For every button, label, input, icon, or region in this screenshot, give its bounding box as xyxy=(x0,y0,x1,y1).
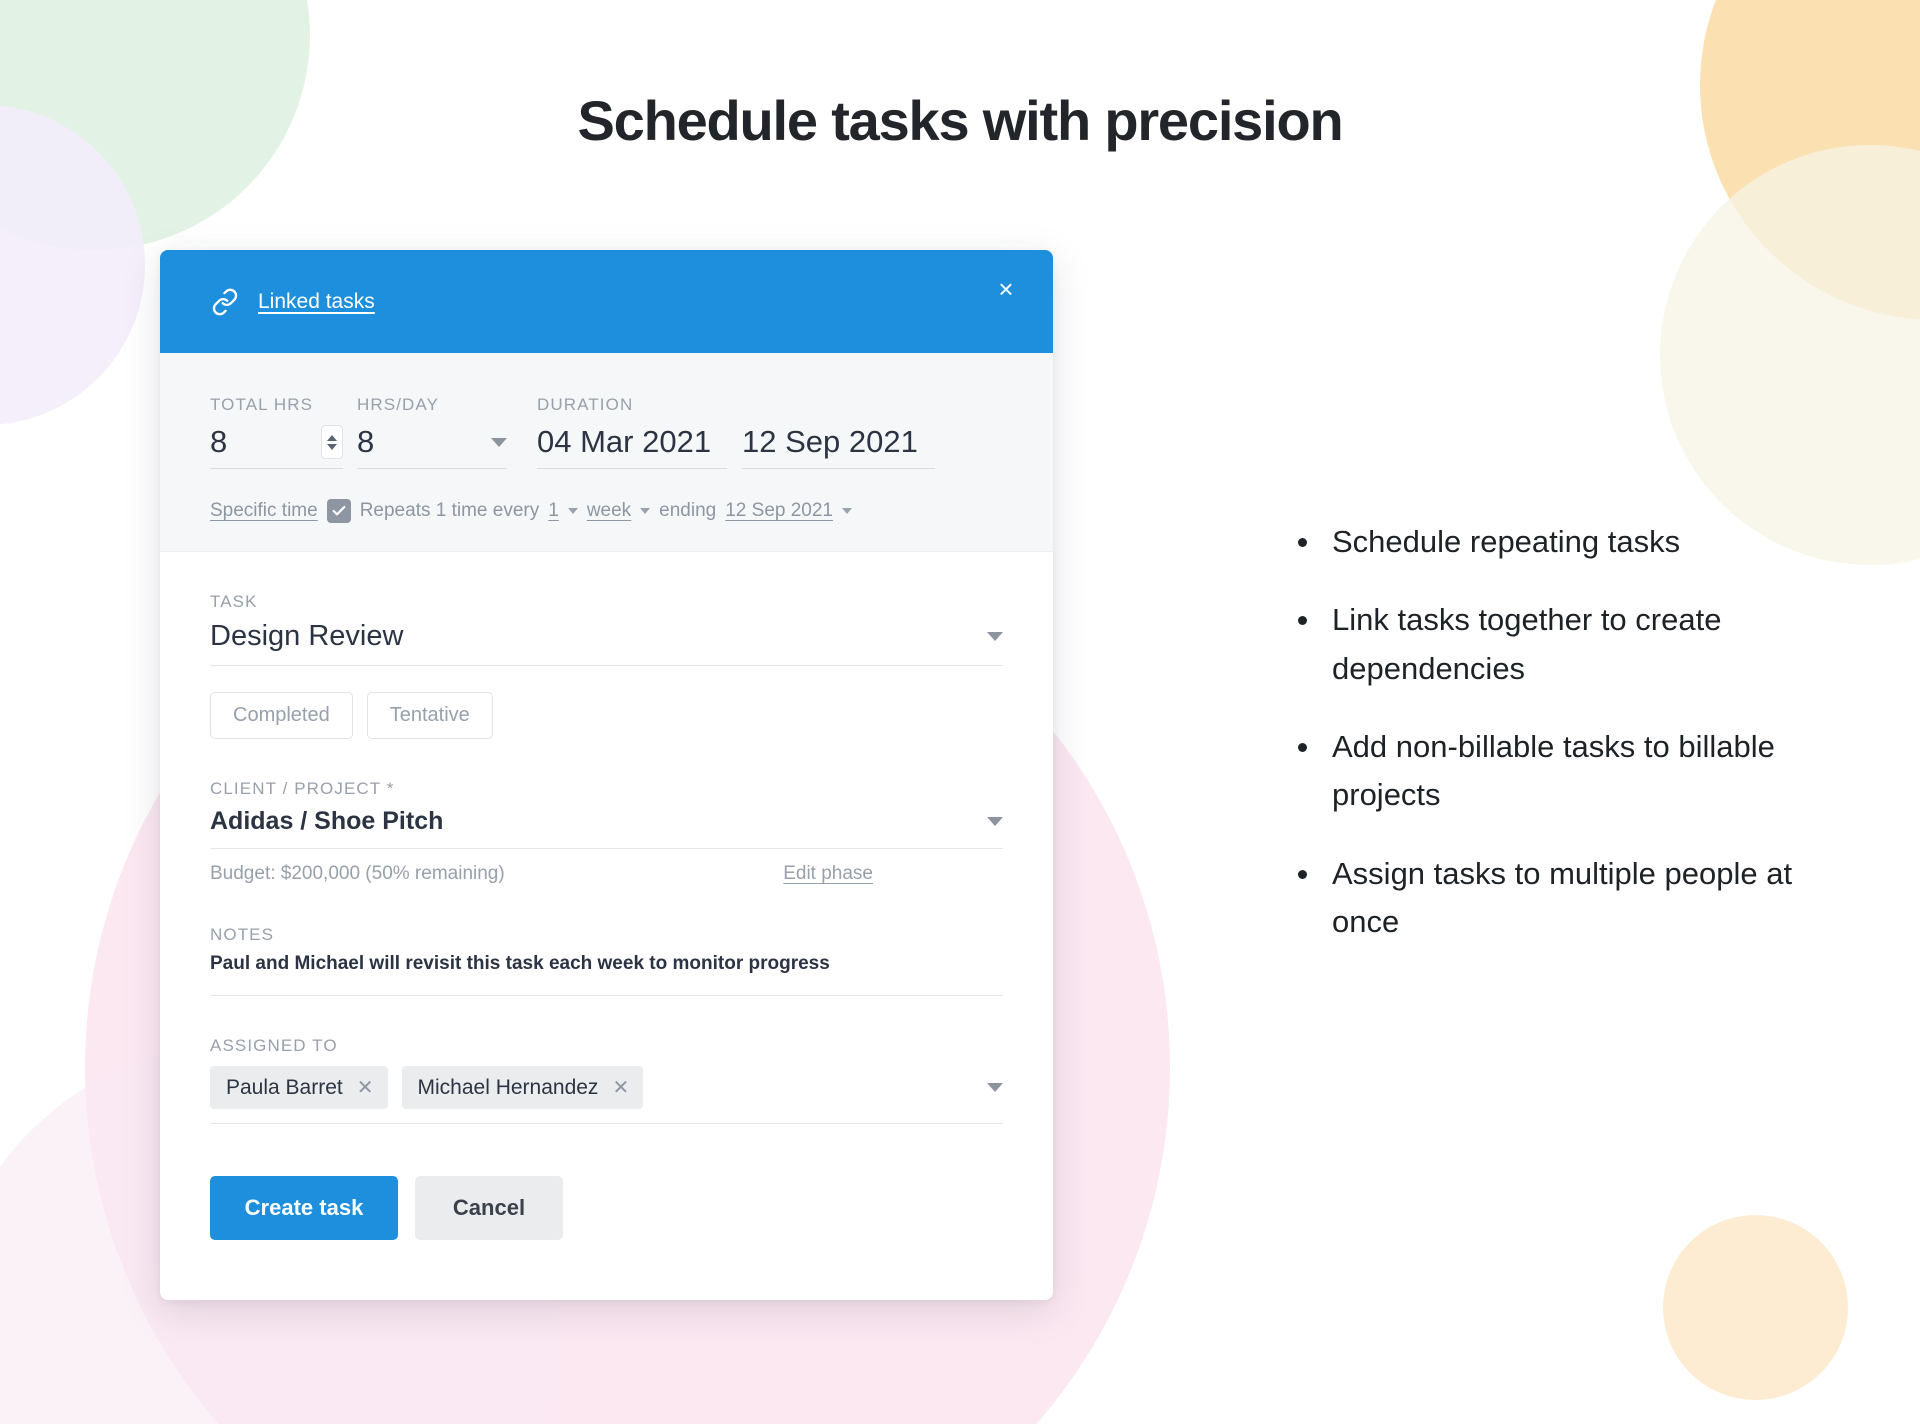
decorative-circle-purple xyxy=(0,105,145,425)
status-pill-tentative[interactable]: Tentative xyxy=(367,692,493,739)
specific-time-link[interactable]: Specific time xyxy=(210,500,318,522)
stepper-down-icon[interactable] xyxy=(327,444,337,450)
client-project-select[interactable]: Adidas / Shoe Pitch xyxy=(210,807,1003,849)
assignee-name: Michael Hernandez xyxy=(418,1076,599,1100)
modal-header: Linked tasks × xyxy=(160,250,1053,353)
modal-actions: Create task Cancel xyxy=(210,1124,1003,1300)
total-hrs-value: 8 xyxy=(210,425,227,459)
remove-assignee-icon[interactable]: ✕ xyxy=(357,1075,374,1100)
total-hrs-input[interactable]: 8 xyxy=(210,425,343,469)
client-project-value: Adidas / Shoe Pitch xyxy=(210,807,443,836)
total-hrs-stepper[interactable] xyxy=(321,425,343,459)
assignee-chip[interactable]: Paula Barret ✕ xyxy=(210,1066,388,1109)
assignee-chip[interactable]: Michael Hernandez ✕ xyxy=(402,1066,644,1109)
duration-label: DURATION xyxy=(537,395,727,415)
total-hrs-field: TOTAL HRS 8 xyxy=(210,395,343,469)
create-task-button[interactable]: Create task xyxy=(210,1176,398,1240)
repeat-ending-label: ending xyxy=(659,500,716,522)
modal-body: TASK Design Review Completed Tentative C… xyxy=(160,552,1053,1300)
repeat-prefix-label: Repeats 1 time every xyxy=(360,500,540,522)
repeat-row: Specific time Repeats 1 time every 1 wee… xyxy=(210,499,1003,523)
linked-tasks-link[interactable]: Linked tasks xyxy=(258,290,375,314)
task-chevron-down-icon[interactable] xyxy=(987,632,1003,641)
client-project-chevron-down-icon[interactable] xyxy=(987,817,1003,826)
list-item: Assign tasks to multiple people at once xyxy=(1290,850,1820,947)
hrs-per-day-label: HRS/DAY xyxy=(357,395,507,415)
schedule-section: TOTAL HRS 8 HRS/DAY 8 xyxy=(160,353,1053,552)
duration-end-input[interactable]: 12 Sep 2021 xyxy=(742,425,935,469)
client-project-section: CLIENT / PROJECT * Adidas / Shoe Pitch B… xyxy=(210,779,1003,885)
assigned-to-label: ASSIGNED TO xyxy=(210,1036,1003,1056)
list-item: Link tasks together to create dependenci… xyxy=(1290,596,1820,693)
duration-end-value: 12 Sep 2021 xyxy=(742,424,918,459)
repeat-ending-chevron-down-icon[interactable] xyxy=(842,508,852,514)
duration-end-field: 12 Sep 2021 xyxy=(742,395,935,469)
notes-label: NOTES xyxy=(210,925,1003,945)
feature-list: Schedule repeating tasks Link tasks toge… xyxy=(1290,518,1820,947)
status-pill-completed[interactable]: Completed xyxy=(210,692,353,739)
assigned-to-section: ASSIGNED TO Paula Barret ✕ Michael Herna… xyxy=(210,1036,1003,1124)
duration-start-value: 04 Mar 2021 xyxy=(537,424,711,459)
decorative-circle-cream xyxy=(1660,145,1920,565)
hrs-per-day-select[interactable]: 8 xyxy=(357,425,507,469)
repeat-checkbox[interactable] xyxy=(327,499,351,523)
repeat-unit-chevron-down-icon[interactable] xyxy=(640,508,650,514)
assigned-to-chevron-down-icon[interactable] xyxy=(987,1083,1003,1092)
page-title: Schedule tasks with precision xyxy=(0,88,1920,153)
notes-input[interactable]: Paul and Michael will revisit this task … xyxy=(210,953,1003,996)
hrs-per-day-field: HRS/DAY 8 xyxy=(357,395,507,469)
cancel-button[interactable]: Cancel xyxy=(415,1176,563,1240)
link-icon xyxy=(210,287,240,317)
budget-row: Budget: $200,000 (50% remaining) Edit ph… xyxy=(210,863,1003,885)
duration-start-field: DURATION 04 Mar 2021 xyxy=(537,395,727,469)
task-section: TASK Design Review Completed Tentative xyxy=(210,592,1003,739)
list-item: Add non-billable tasks to billable proje… xyxy=(1290,723,1820,820)
repeat-ending-date[interactable]: 12 Sep 2021 xyxy=(725,500,833,522)
decorative-circle-orange xyxy=(1700,0,1920,320)
assigned-to-select[interactable]: Paula Barret ✕ Michael Hernandez ✕ xyxy=(210,1066,1003,1124)
remove-assignee-icon[interactable]: ✕ xyxy=(612,1075,629,1100)
task-select[interactable]: Design Review xyxy=(210,620,1003,666)
repeat-interval-chevron-down-icon[interactable] xyxy=(568,508,578,514)
chevron-down-icon[interactable] xyxy=(491,438,507,447)
task-value: Design Review xyxy=(210,620,403,653)
hrs-per-day-value: 8 xyxy=(357,425,374,459)
decorative-circle-peach xyxy=(1663,1215,1848,1400)
stepper-up-icon[interactable] xyxy=(327,435,337,441)
total-hrs-label: TOTAL HRS xyxy=(210,395,343,415)
repeat-unit-value[interactable]: week xyxy=(587,500,631,522)
edit-phase-link[interactable]: Edit phase xyxy=(783,863,873,885)
assignee-name: Paula Barret xyxy=(226,1076,343,1100)
duration-start-input[interactable]: 04 Mar 2021 xyxy=(537,425,727,469)
duration-end-spacer xyxy=(742,395,935,415)
repeat-interval-value[interactable]: 1 xyxy=(548,500,559,522)
task-modal: Linked tasks × TOTAL HRS 8 HRS/D xyxy=(160,250,1053,1300)
notes-section: NOTES Paul and Michael will revisit this… xyxy=(210,925,1003,996)
close-icon[interactable]: × xyxy=(987,270,1025,308)
list-item: Schedule repeating tasks xyxy=(1290,518,1820,566)
task-label: TASK xyxy=(210,592,1003,612)
page-root: Schedule tasks with precision Linked tas… xyxy=(0,0,1920,1424)
status-pill-row: Completed Tentative xyxy=(210,692,1003,739)
budget-text: Budget: $200,000 (50% remaining) xyxy=(210,863,505,885)
schedule-fields-row: TOTAL HRS 8 HRS/DAY 8 xyxy=(210,395,1003,469)
client-project-label: CLIENT / PROJECT * xyxy=(210,779,1003,799)
